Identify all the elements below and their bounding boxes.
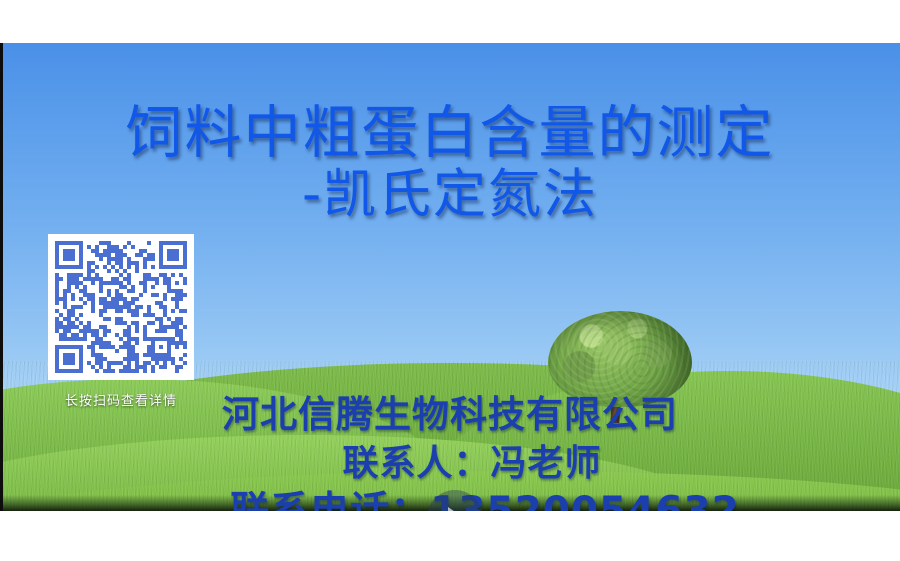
qr-code-card[interactable]: 长按扫码查看详情 <box>48 234 194 409</box>
qr-caption: 长按扫码查看详情 <box>48 390 194 409</box>
page-subtitle: -凯氏定氮法 <box>0 167 900 223</box>
page-title: 饲料中粗蛋白含量的测定 <box>0 103 900 163</box>
video-player-frame[interactable]: 饲料中粗蛋白含量的测定 -凯氏定氮法 河北信腾生物科技有限公司 联系人：冯老师 … <box>0 43 900 511</box>
qr-code-icon[interactable] <box>55 241 187 373</box>
play-triangle-icon <box>448 507 464 511</box>
qr-code-box[interactable] <box>48 234 194 380</box>
slide-title-block: 饲料中粗蛋白含量的测定 -凯氏定氮法 <box>0 103 900 224</box>
contact-person: 联系人：冯老师 <box>0 444 900 484</box>
screenshot-root: 饲料中粗蛋白含量的测定 -凯氏定氮法 河北信腾生物科技有限公司 联系人：冯老师 … <box>0 0 900 561</box>
